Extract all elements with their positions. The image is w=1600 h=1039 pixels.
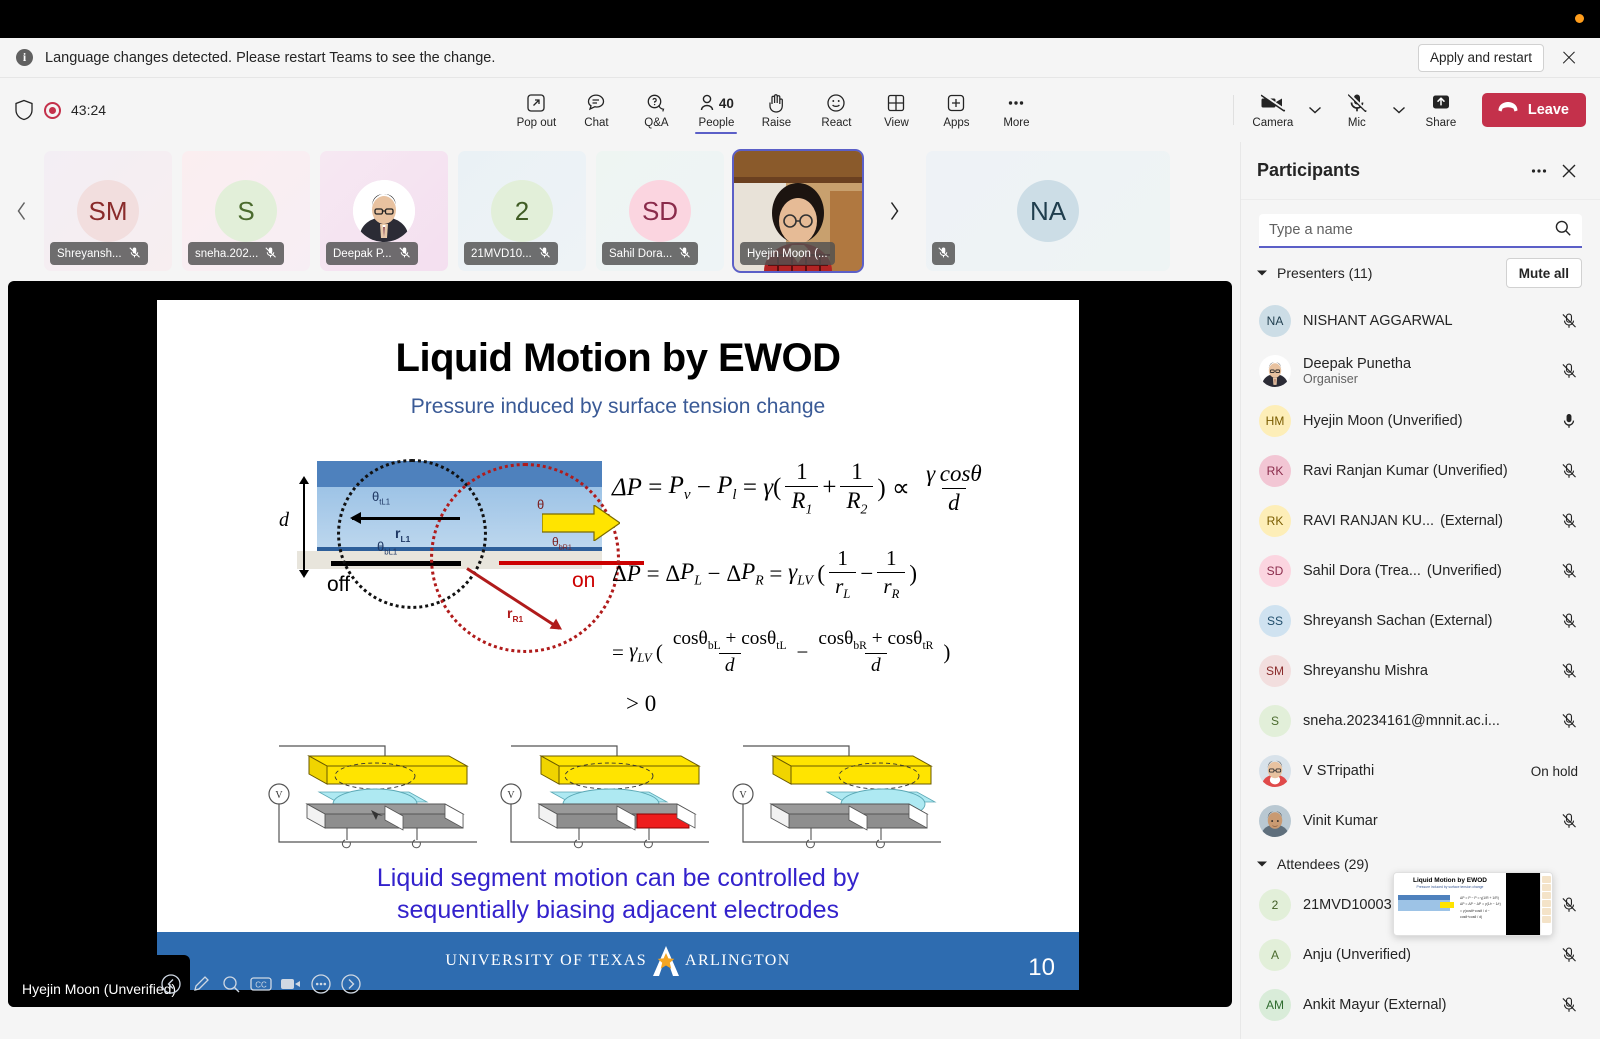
search-input[interactable] — [1269, 222, 1554, 238]
avatar-initials: NA — [1030, 196, 1066, 227]
tile-name: 21MVD10... — [471, 248, 532, 260]
chat-button[interactable]: Chat — [567, 88, 625, 132]
participant-row[interactable]: NA NISHANT AGGARWAL — [1251, 296, 1590, 346]
avatar: SD — [1259, 555, 1291, 587]
thumbnail-subtitle: Pressure induced by surface tension chan… — [1398, 885, 1502, 889]
participant-name: 21MVD10003 — [1303, 897, 1392, 913]
slide-conclusion: Liquid segment motion can be controlled … — [157, 862, 1079, 926]
uta-text-left: UNIVERSITY OF TEXAS — [445, 952, 647, 970]
avatar: SD — [629, 180, 691, 242]
participant-info: Sahil Dora (Trea... (Unverified) — [1303, 563, 1544, 579]
thumbnail-slide: Liquid Motion by EWOD Pressure induced b… — [1394, 873, 1506, 935]
toolbar-left-group: 43:24 — [0, 99, 330, 121]
view-grid-icon — [885, 91, 907, 115]
info-icon: i — [16, 49, 33, 66]
presenter-name: Hyejin Moon (Unverified) — [22, 981, 176, 997]
pop-out-icon — [525, 91, 547, 115]
uta-a-mark-icon — [651, 944, 681, 978]
participant-info: RAVI RANJAN KU... (External) — [1303, 513, 1544, 529]
equation-4: > 0 — [626, 691, 1072, 717]
participants-panel: Participants Presenters (11) Mute all — [1240, 142, 1600, 1039]
avatar — [1259, 355, 1291, 387]
avatar-initials: NA — [1267, 314, 1284, 328]
electrode-sequence-figure: V — [267, 732, 977, 852]
banner-message: Language changes detected. Please restar… — [45, 50, 1418, 66]
participant-tag: (Unverified) — [1427, 563, 1502, 579]
uta-logo: UNIVERSITY OF TEXAS ARLINGTON — [445, 944, 790, 978]
status-indicator-dot — [1575, 14, 1584, 23]
panel-more-options-icon[interactable] — [1524, 156, 1554, 186]
chat-icon — [585, 91, 607, 115]
qa-button[interactable]: Q&A — [627, 88, 685, 132]
video-tile[interactable]: NA — [926, 151, 1170, 271]
mic-off-icon[interactable] — [1556, 812, 1582, 830]
video-tile[interactable]: S sneha.202... — [182, 151, 310, 271]
participant-row[interactable]: SS Shreyansh Sachan (External) — [1251, 596, 1590, 646]
label-theta-bL1: θbL1 — [377, 539, 397, 557]
electrode-panel-3: V — [731, 732, 959, 852]
label-rL1: rL1 — [395, 525, 410, 544]
filmstrip-prev-arrow-icon[interactable] — [0, 151, 44, 271]
camera-label: Camera — [1252, 117, 1293, 129]
slide-title: Liquid Motion by EWOD — [157, 336, 1079, 381]
avatar: HM — [1259, 405, 1291, 437]
participant-name: Anju (Unverified) — [1303, 947, 1411, 963]
avatar-initials: RK — [1267, 514, 1284, 528]
svg-text:CC: CC — [255, 981, 267, 990]
tile-nametag: sneha.202... — [188, 242, 284, 265]
mic-chevron-down-icon[interactable] — [1386, 90, 1412, 130]
participant-row[interactable]: HM Hyejin Moon (Unverified) — [1251, 396, 1590, 446]
participant-info: Shreyansh Sachan (External) — [1303, 613, 1544, 629]
participant-name: Sahil Dora (Trea... — [1303, 563, 1421, 579]
avatar: 2 — [1259, 889, 1291, 921]
apps-label: Apps — [943, 117, 969, 129]
avatar: SM — [77, 180, 139, 242]
view-label: View — [884, 117, 909, 129]
mute-all-button[interactable]: Mute all — [1506, 258, 1582, 288]
presenters-section-header: Presenters (11) Mute all — [1241, 248, 1600, 296]
participant-info: V STripathi — [1303, 763, 1519, 779]
participant-tag: (External) — [1440, 513, 1503, 529]
participant-row[interactable]: A Anju (Unverified) — [1251, 930, 1590, 980]
tile-nametag — [932, 242, 955, 265]
recording-icon — [44, 102, 61, 119]
avatar: RK — [1259, 505, 1291, 537]
meeting-timer: 43:24 — [71, 102, 106, 118]
people-button[interactable]: 40 People — [687, 88, 745, 132]
avatar-initials: 2 — [1272, 898, 1279, 912]
mic-off-icon — [264, 246, 277, 262]
tile-nametag: Hyejin Moon (... — [740, 242, 835, 265]
raise-label: Raise — [762, 117, 791, 129]
participant-status: On hold — [1531, 764, 1582, 779]
equation-1: ΔP = Pv − Pl = γ( 1R1 + 1R2 ) ∝ γ cosθd — [612, 459, 1072, 518]
thumbnail-strip-row — [1542, 892, 1551, 899]
avatar: SS — [1259, 605, 1291, 637]
equation-2: ΔP = ΔPL − ΔPR = γLV ( 1rL − 1rR ) — [612, 546, 1072, 602]
video-tile[interactable]: Deepak P... — [320, 151, 448, 271]
mic-off-icon — [678, 246, 691, 262]
participant-row[interactable]: V STripathi On hold — [1251, 746, 1590, 796]
label-d: d — [279, 509, 289, 532]
participant-role: Organiser — [1303, 372, 1411, 386]
more-icon[interactable] — [310, 973, 332, 995]
filmstrip-next-arrow-icon[interactable] — [872, 151, 916, 271]
thumbnail-video-pane — [1506, 873, 1540, 935]
avatar-initials: S — [1271, 714, 1279, 728]
shared-content-stage[interactable]: Liquid Motion by EWOD Pressure induced b… — [8, 281, 1232, 1007]
camera-button[interactable]: Camera — [1244, 88, 1302, 132]
people-label: People — [699, 117, 735, 129]
avatar: 2 — [491, 180, 553, 242]
mic-off-icon[interactable] — [1556, 512, 1582, 530]
participant-row[interactable]: AM Ankit Mayur (External) — [1251, 980, 1590, 1030]
avatar-initials: AM — [1266, 998, 1284, 1012]
mic-off-icon[interactable] — [1556, 946, 1582, 964]
pop-out-button[interactable]: Pop out — [507, 88, 565, 132]
equation-block: ΔP = Pv − Pl = γ( 1R1 + 1R2 ) ∝ γ cosθd … — [612, 435, 1072, 717]
avatar-initials: HM — [1266, 414, 1285, 428]
thumbnail-strip-row — [1542, 876, 1551, 883]
banner-close-icon[interactable] — [1554, 43, 1584, 73]
participant-info: Anju (Unverified) — [1303, 947, 1544, 963]
tile-nametag: Shreyansh... — [50, 242, 148, 265]
slide-thumbnail-preview: Liquid Motion by EWOD Pressure induced b… — [1393, 872, 1553, 936]
participant-row[interactable]: S sneha.20234161@mnnit.ac.i... — [1251, 696, 1590, 746]
people-count: 40 — [719, 96, 734, 111]
participant-name: Deepak Punetha — [1303, 356, 1411, 372]
react-button[interactable]: React — [807, 88, 865, 132]
filmstrip-tiles: SM Shreyansh... S sneha.202... — [44, 151, 1170, 271]
back-icon[interactable] — [160, 973, 182, 995]
profile-photo — [1259, 355, 1291, 387]
mic-off-icon — [398, 246, 411, 262]
mic-on-icon[interactable] — [1556, 412, 1582, 430]
gap-dimension-arrow — [303, 483, 305, 571]
label-on: on — [572, 569, 595, 593]
participant-name: NISHANT AGGARWAL — [1303, 313, 1453, 329]
search-icon[interactable] — [1554, 219, 1572, 242]
mic-off-icon[interactable] — [1556, 612, 1582, 630]
qa-label: Q&A — [644, 117, 668, 129]
participant-info: Ankit Mayur (External) — [1303, 997, 1544, 1013]
camera-off-icon — [1260, 91, 1286, 115]
avatar-initials: 2 — [515, 196, 529, 227]
participant-name: Ankit Mayur (External) — [1303, 997, 1446, 1013]
thumbnail-strip-row — [1542, 884, 1551, 891]
share-label: Share — [1426, 117, 1457, 129]
thumbnail-strip-row — [1542, 908, 1551, 915]
search-box[interactable] — [1259, 214, 1582, 248]
participants-search-wrap — [1241, 200, 1600, 248]
right-meniscus-circle — [430, 463, 620, 653]
raise-hand-icon — [766, 91, 786, 115]
tile-name: Hyejin Moon (... — [747, 248, 828, 260]
toolbar-right-group: Camera Mic Share — [1223, 88, 1600, 132]
apply-and-restart-button[interactable]: Apply and restart — [1418, 44, 1544, 72]
participant-row[interactable]: Vinit Kumar — [1251, 796, 1590, 846]
avatar — [353, 180, 415, 242]
avatar: A — [1259, 939, 1291, 971]
video-tile-active-speaker[interactable]: Hyejin Moon (... — [734, 151, 862, 271]
motion-arrow-icon — [542, 505, 620, 541]
rL1-arrow — [352, 517, 460, 520]
toolbar-center-group: Pop out Chat Q&A 40 People — [330, 88, 1223, 132]
view-button[interactable]: View — [867, 88, 925, 132]
participant-info: Vinit Kumar — [1303, 813, 1544, 829]
teams-meeting-window: i Language changes detected. Please rest… — [0, 0, 1600, 1039]
mic-off-icon — [538, 246, 551, 262]
presenters-list: NA NISHANT AGGARWAL — [1241, 296, 1600, 846]
participant-filmstrip: SM Shreyansh... S sneha.202... — [0, 142, 1232, 280]
profile-photo — [353, 180, 415, 242]
apps-plus-icon — [945, 91, 967, 115]
mic-off-icon[interactable] — [1556, 362, 1582, 380]
equation-3: = γLV ( cosθbL + cosθtLd − cosθbR + cosθ… — [612, 628, 1072, 677]
svg-text:V: V — [507, 790, 515, 801]
mic-button[interactable]: Mic — [1328, 88, 1386, 132]
participant-info: sneha.20234161@mnnit.ac.i... — [1303, 713, 1544, 729]
avatar-initials: SM — [89, 196, 128, 227]
tile-name: Sahil Dora... — [609, 248, 672, 260]
hangup-icon — [1497, 101, 1519, 119]
participant-row[interactable]: Deepak Punetha Organiser — [1251, 346, 1590, 396]
mic-off-icon[interactable] — [1556, 996, 1582, 1014]
shield-icon — [14, 99, 34, 121]
more-dots-icon — [1005, 91, 1027, 115]
slide-middle-section: d θtL1 rL1 θbL1 θ θbR1 — [157, 435, 1079, 703]
react-icon — [825, 91, 847, 115]
participant-info: Hyejin Moon (Unverified) — [1303, 413, 1544, 429]
tile-nametag: Sahil Dora... — [602, 242, 698, 265]
mic-off-icon — [1346, 91, 1368, 115]
uta-text-right: ARLINGTON — [685, 952, 791, 970]
pen-icon[interactable] — [190, 973, 212, 995]
tile-nametag: 21MVD10... — [464, 242, 558, 265]
avatar-initials: SS — [1267, 614, 1283, 628]
leave-button[interactable]: Leave — [1482, 93, 1586, 127]
mic-off-icon[interactable] — [1556, 562, 1582, 580]
toolbar-divider — [1233, 95, 1234, 125]
participant-info: Deepak Punetha Organiser — [1303, 356, 1544, 386]
tile-name: sneha.202... — [195, 248, 258, 260]
mic-off-icon[interactable] — [1556, 712, 1582, 730]
mic-off-icon[interactable] — [1556, 662, 1582, 680]
thumbnail-arrow — [1440, 902, 1454, 908]
participant-info: NISHANT AGGARWAL — [1303, 313, 1544, 329]
panel-title: Participants — [1257, 160, 1524, 181]
chat-label: Chat — [584, 117, 608, 129]
mic-off-icon[interactable] — [1556, 312, 1582, 330]
participant-name: Shreyansh Sachan (External) — [1303, 613, 1492, 629]
meeting-toolbar: 43:24 Pop out Chat Q&A — [0, 79, 1600, 141]
tile-name: Deepak P... — [333, 248, 392, 260]
chevron-down-icon[interactable] — [1255, 857, 1269, 871]
avatar: S — [215, 180, 277, 242]
conclusion-line-1: Liquid segment motion can be controlled … — [157, 862, 1079, 894]
presentation-slide: Liquid Motion by EWOD Pressure induced b… — [157, 300, 1079, 990]
avatar-initials: SD — [642, 196, 678, 227]
camera-chevron-down-icon[interactable] — [1302, 90, 1328, 130]
panel-close-icon[interactable] — [1554, 156, 1584, 186]
video-tile[interactable]: SD Sahil Dora... — [596, 151, 724, 271]
participant-name: Shreyanshu Mishra — [1303, 663, 1428, 679]
avatar-initials: S — [237, 196, 254, 227]
profile-photo — [1259, 755, 1291, 787]
mic-off-icon — [128, 246, 141, 262]
presenters-label: Presenters (11) — [1277, 265, 1498, 281]
leave-label: Leave — [1528, 102, 1569, 118]
tile-name: Shreyansh... — [57, 248, 122, 260]
language-change-banner: i Language changes detected. Please rest… — [0, 38, 1600, 78]
label-off: off — [327, 573, 350, 597]
mic-off-icon[interactable] — [1556, 896, 1582, 914]
avatar — [1259, 805, 1291, 837]
people-icon: 40 — [699, 91, 734, 115]
participant-row[interactable]: SD Sahil Dora (Trea... (Unverified) — [1251, 546, 1590, 596]
raise-hand-button[interactable]: Raise — [747, 88, 805, 132]
participant-row[interactable]: RK Ravi Ranjan Kumar (Unverified) — [1251, 446, 1590, 496]
avatar: NA — [1259, 305, 1291, 337]
tile-nametag: Deepak P... — [326, 242, 418, 265]
participant-info: Ravi Ranjan Kumar (Unverified) — [1303, 463, 1544, 479]
participant-row[interactable]: RK RAVI RANJAN KU... (External) — [1251, 496, 1590, 546]
slide-controls-bar: CC — [160, 973, 362, 995]
participant-name: V STripathi — [1303, 763, 1374, 779]
forward-icon[interactable] — [340, 973, 362, 995]
participant-name: Ravi Ranjan Kumar (Unverified) — [1303, 463, 1508, 479]
mic-label: Mic — [1348, 117, 1366, 129]
slide-subtitle: Pressure induced by surface tension chan… — [157, 395, 1079, 419]
participant-row[interactable]: SM Shreyanshu Mishra — [1251, 646, 1590, 696]
avatar-initials: SM — [1266, 664, 1284, 678]
react-label: React — [821, 117, 851, 129]
video-tile[interactable]: SM Shreyansh... — [44, 151, 172, 271]
qa-icon — [645, 91, 667, 115]
avatar-initials: A — [1271, 948, 1279, 962]
video-icon[interactable] — [280, 973, 302, 995]
thumbnail-strip-row — [1542, 916, 1551, 923]
participant-name: Hyejin Moon (Unverified) — [1303, 413, 1463, 429]
more-button[interactable]: More — [987, 88, 1045, 132]
mic-off-icon[interactable] — [1556, 462, 1582, 480]
label-theta-tL1: θtL1 — [372, 489, 390, 507]
ewod-cross-section-diagram: d θtL1 rL1 θbL1 θ θbR1 — [217, 447, 617, 677]
avatar-initials: RK — [1267, 464, 1284, 478]
video-tile[interactable]: 2 21MVD10... — [458, 151, 586, 271]
avatar — [1259, 755, 1291, 787]
thumbnail-title: Liquid Motion by EWOD — [1398, 877, 1502, 884]
label-rR1: rR1 — [507, 605, 523, 624]
electrode-panel-1: V — [267, 732, 495, 852]
svg-text:V: V — [275, 790, 283, 801]
avatar-initials: SD — [1267, 564, 1284, 578]
avatar: RK — [1259, 455, 1291, 487]
avatar: NA — [1017, 180, 1079, 242]
electrode-panel-2: V — [499, 732, 727, 852]
profile-photo — [1259, 805, 1291, 837]
avatar: SM — [1259, 655, 1291, 687]
more-label: More — [1003, 117, 1029, 129]
cc-icon[interactable]: CC — [250, 973, 272, 995]
thumbnail-equations: ΔP = P − P = γ(1/R + 1/R)ΔP = ΔP − ΔP = … — [1460, 895, 1506, 921]
participant-name: Vinit Kumar — [1303, 813, 1378, 829]
avatar: S — [1259, 705, 1291, 737]
pop-out-label: Pop out — [517, 117, 557, 129]
svg-text:V: V — [739, 790, 747, 801]
participants-header: Participants — [1241, 142, 1600, 200]
attendees-label: Attendees (29) — [1277, 856, 1582, 872]
participant-info: Shreyanshu Mishra — [1303, 663, 1544, 679]
slide-number: 10 — [1028, 954, 1055, 982]
share-screen-icon — [1429, 91, 1453, 115]
zoom-icon[interactable] — [220, 973, 242, 995]
share-button[interactable]: Share — [1412, 88, 1470, 132]
mic-off-icon — [937, 246, 950, 262]
apps-button[interactable]: Apps — [927, 88, 985, 132]
conclusion-line-2: sequentially biasing adjacent electrodes — [157, 894, 1079, 926]
participant-name: RAVI RANJAN KU... — [1303, 513, 1434, 529]
window-title-bar — [0, 0, 1600, 38]
participant-name: sneha.20234161@mnnit.ac.i... — [1303, 713, 1500, 729]
avatar: AM — [1259, 989, 1291, 1021]
thumbnail-side-strip — [1540, 873, 1552, 935]
chevron-down-icon[interactable] — [1255, 266, 1269, 280]
thumbnail-strip-row — [1542, 900, 1551, 907]
